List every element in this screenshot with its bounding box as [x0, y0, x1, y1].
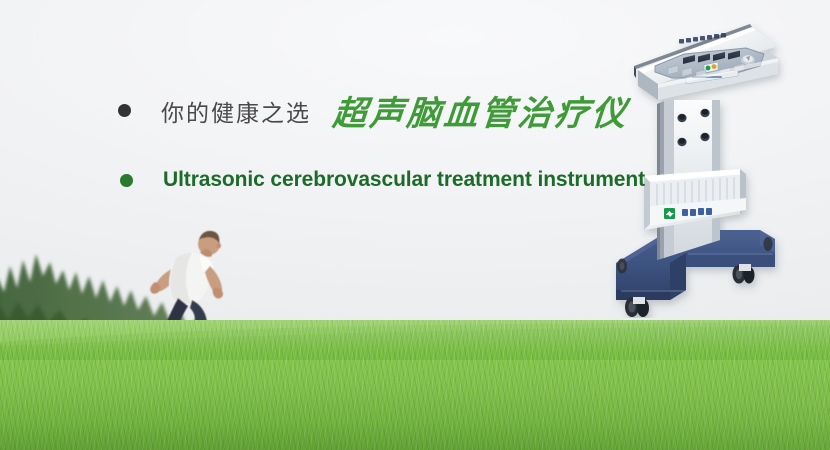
product-name-chinese: 超声脑血管治疗仪 [331, 86, 631, 135]
grass-field [0, 320, 830, 450]
tagline-chinese: 你的健康之选 [161, 94, 311, 128]
headline-row-chinese: 你的健康之选 超声脑血管治疗仪 [118, 86, 629, 135]
headline-row-english: Ultrasonic cerebrovascular treatment ins… [120, 168, 645, 192]
device-logo-mark [664, 208, 675, 219]
bullet-point-green-icon [120, 174, 133, 187]
promo-banner: 你的健康之选 超声脑血管治疗仪 Ultrasonic cerebrovascul… [0, 0, 830, 450]
bullet-point-icon [118, 104, 131, 117]
medical-device-illustration [600, 8, 830, 318]
product-name-english: Ultrasonic cerebrovascular treatment ins… [163, 168, 645, 192]
headline-copy-block: 你的健康之选 超声脑血管治疗仪 Ultrasonic cerebrovascul… [0, 0, 620, 260]
